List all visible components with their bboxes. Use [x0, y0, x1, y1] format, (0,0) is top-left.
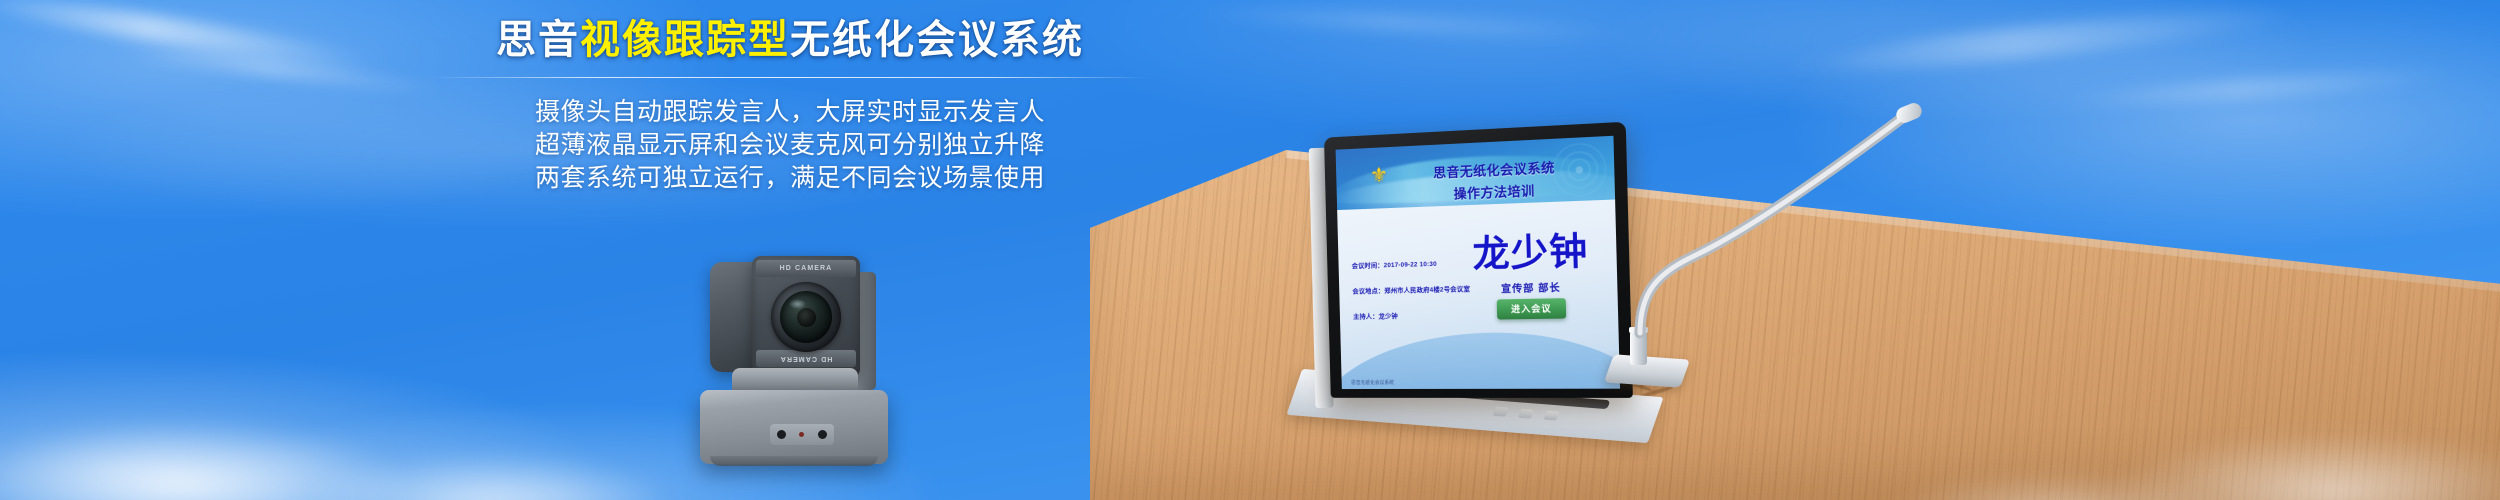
camera-brand-label: HD CAMERA [756, 350, 856, 367]
monitor-screen[interactable]: ⚜ 思音无纸化会议系统 操作方法培训 会议时间：2017-09-22 10:30… [1336, 136, 1620, 389]
monitor-bezel: ⚜ 思音无纸化会议系统 操作方法培训 会议时间：2017-09-22 10:30… [1324, 122, 1633, 398]
title-segment-2: 视像跟踪型 [580, 18, 790, 62]
banner-text-block: 思音视像跟踪型无纸化会议系统 摄像头自动跟踪发言人，大屏实时显示发言人 超薄液晶… [430, 8, 1150, 228]
gooseneck-microphone [1600, 95, 1930, 415]
cloud-wisp [0, 0, 379, 77]
microphone-collar-ring [1629, 327, 1648, 333]
camera-sensor-panel [770, 424, 834, 445]
speaker-name: 龙少钟 [1451, 228, 1610, 275]
panel-screw [1518, 409, 1534, 419]
cloud-wisp [120, 42, 449, 98]
slide-footer-note: 思音无纸化会议系统 [1351, 379, 1394, 386]
subtitle-line: 摄像头自动跟踪发言人，大屏实时显示发言人 [430, 96, 1150, 129]
enter-meeting-button[interactable]: 进入会议 [1497, 298, 1567, 319]
foreground-cloud [0, 418, 420, 500]
cloud-wisp [2060, 64, 2460, 112]
camera-lens-highlight [789, 299, 806, 309]
camera-brand-plate-top: HD CAMERA [756, 260, 856, 277]
title-divider [430, 77, 1150, 78]
product-banner: 思音视像跟踪型无纸化会议系统 摄像头自动跟踪发言人，大屏实时显示发言人 超薄液晶… [0, 0, 2500, 500]
foreground-cloud [300, 452, 680, 500]
cloud-wisp [1780, 0, 2300, 83]
slide-body: 会议时间：2017-09-22 10:30 会议地点：郑州市人民政府4楼2号会议… [1337, 200, 1620, 390]
subtitle-list: 摄像头自动跟踪发言人，大屏实时显示发言人 超薄液晶显示屏和会议麦克风可分别独立升… [430, 96, 1150, 195]
camera-lens-core [797, 308, 816, 327]
subtitle-line: 超薄液晶显示屏和会议麦克风可分别独立升降 [430, 129, 1150, 162]
meeting-time-text: 会议时间：2017-09-22 10:30 [1352, 258, 1437, 270]
page-title: 思音视像跟踪型无纸化会议系统 [430, 8, 1150, 63]
ir-receiver-icon [818, 430, 827, 439]
panel-screw [1544, 411, 1560, 421]
status-led-icon [799, 432, 804, 437]
cloud-wisp [1180, 2, 1640, 44]
microphone-base [1604, 354, 1690, 387]
camera-base-foot [710, 456, 878, 466]
camera-lens-ring [771, 282, 841, 352]
microphone-collar [1630, 331, 1647, 365]
camera-brand-label: HD CAMERA [756, 260, 856, 277]
microphone-capsule [1894, 101, 1924, 126]
camera-lens-glass [780, 291, 832, 343]
title-segment-1: 思音 [496, 18, 580, 62]
subtitle-line: 两套系统可独立运行，满足不同会议场景使用 [430, 162, 1150, 195]
speaker-role: 宣传部 部长 [1453, 278, 1612, 297]
lcd-monitor: ⚜ 思音无纸化会议系统 操作方法培训 会议时间：2017-09-22 10:30… [1296, 126, 1643, 415]
ir-receiver-icon [777, 430, 786, 439]
camera-base [700, 390, 888, 464]
title-segment-3: 无纸化会议系统 [790, 18, 1084, 62]
camera-brand-plate-bottom: HD CAMERA [756, 350, 856, 367]
meeting-host-text: 主持人：龙少钟 [1353, 310, 1398, 321]
ptz-conference-camera: HD CAMERA HD CAMERA [690, 250, 930, 500]
party-emblem-icon: ⚜ [1367, 164, 1391, 189]
